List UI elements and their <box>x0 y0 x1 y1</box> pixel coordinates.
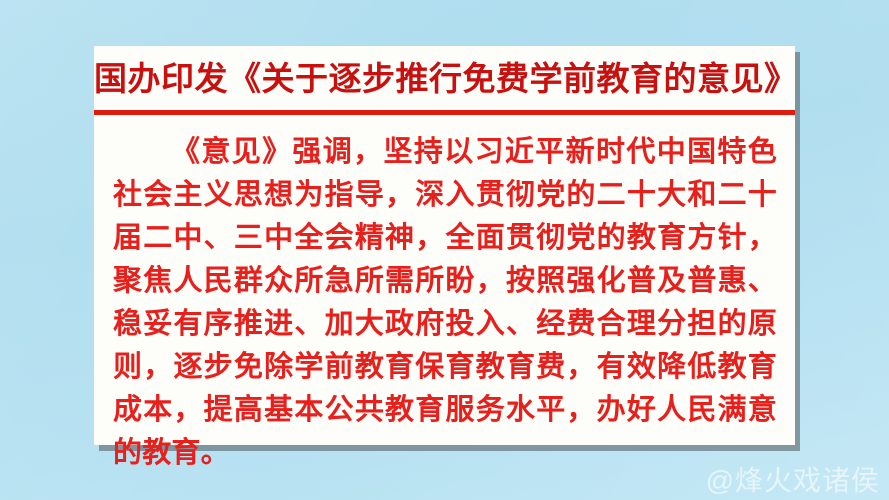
notice-card: 国办印发《关于逐步推行免费学前教育的意见》 《意见》强调，坚持以习近平新时代中国… <box>94 46 795 445</box>
title-divider <box>94 110 795 115</box>
notice-body-text: 《意见》强调，坚持以习近平新时代中国特色社会主义思想为指导，深入贯彻党的二十大和… <box>113 131 777 475</box>
page-title: 国办印发《关于逐步推行免费学前教育的意见》 <box>94 60 795 100</box>
slide-canvas: 国办印发《关于逐步推行免费学前教育的意见》 《意见》强调，坚持以习近平新时代中国… <box>0 0 889 500</box>
